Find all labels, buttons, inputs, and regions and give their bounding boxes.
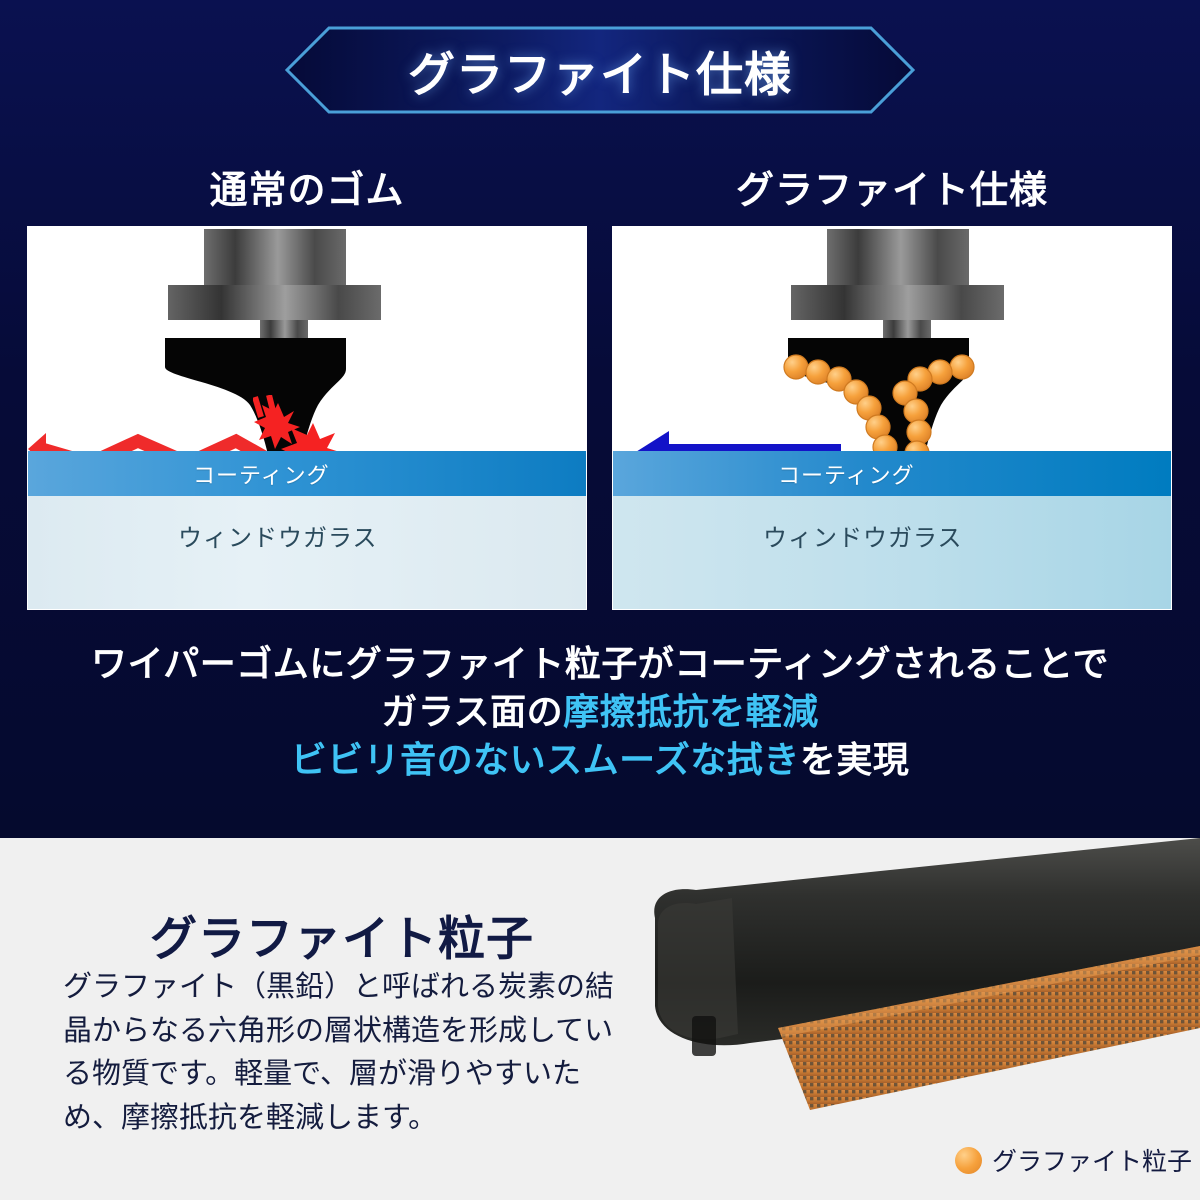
photo-legend: グラファイト粒子 [955, 1142, 1192, 1178]
coating-label: コーティング [778, 458, 915, 490]
lead-line-3: ビビリ音のないスムーズな拭きを実現 [0, 736, 1200, 784]
legend-label: グラファイト粒子 [992, 1142, 1192, 1178]
lead-line-3-highlight-1: ビビリ音のない [291, 739, 547, 780]
banner-title: グラファイト仕様 [285, 26, 915, 114]
glass-label: ウィンドウガラス [763, 518, 963, 553]
lead-line-2: ガラス面の摩擦抵抗を軽減 [0, 688, 1200, 736]
coating-label: コーティング [193, 458, 330, 490]
coating-layer-left: コーティング [28, 451, 586, 496]
lead-line-2-highlight: 摩擦抵抗を軽減 [563, 691, 819, 732]
coating-layer-right: コーティング [613, 451, 1171, 496]
lead-text: ワイパーゴムにグラファイト粒子がコーティングされることで ガラス面の摩擦抵抗を軽… [0, 640, 1200, 784]
diagram-panel-normal-rubber: 摩擦抵抗が大きい 摩擦でビビリ音 コーティング ウィンドウガラス [27, 226, 587, 610]
infographic-page: グラファイト仕様 通常のゴム グラファイト仕様 [0, 0, 1200, 1200]
graphite-particle-icon [955, 1147, 982, 1174]
diagram-panel-graphite: スムーズな動き 摩擦抵抗が少ない グラファイト粒子 コーティング ウィンドウガラ… [612, 226, 1172, 610]
panel-title-normal: 通常のゴム [27, 160, 587, 212]
lead-line-3-post: を実現 [800, 739, 910, 780]
wiper-blade-photo [600, 838, 1200, 1138]
bottom-body: グラファイト（黒鉛）と呼ばれる炭素の結晶からなる六角形の層状構造を形成している物… [63, 966, 628, 1140]
top-section: グラファイト仕様 通常のゴム グラファイト仕様 [0, 0, 1200, 838]
glass-layer-right: ウィンドウガラス [613, 496, 1171, 609]
lead-line-1: ワイパーゴムにグラファイト粒子がコーティングされることで [0, 640, 1200, 688]
lead-line-2-pre: ガラス面の [381, 691, 563, 732]
glass-label: ウィンドウガラス [178, 518, 378, 553]
bottom-heading: グラファイト粒子 [150, 900, 534, 969]
panel-title-graphite: グラファイト仕様 [612, 160, 1172, 212]
glass-layer-left: ウィンドウガラス [28, 496, 586, 609]
header-banner: グラファイト仕様 [285, 26, 915, 114]
bottom-section: グラファイト粒子 グラファイト（黒鉛）と呼ばれる炭素の結晶からなる六角形の層状構… [0, 838, 1200, 1200]
lead-line-3-highlight-2: スムーズな拭き [546, 739, 800, 780]
